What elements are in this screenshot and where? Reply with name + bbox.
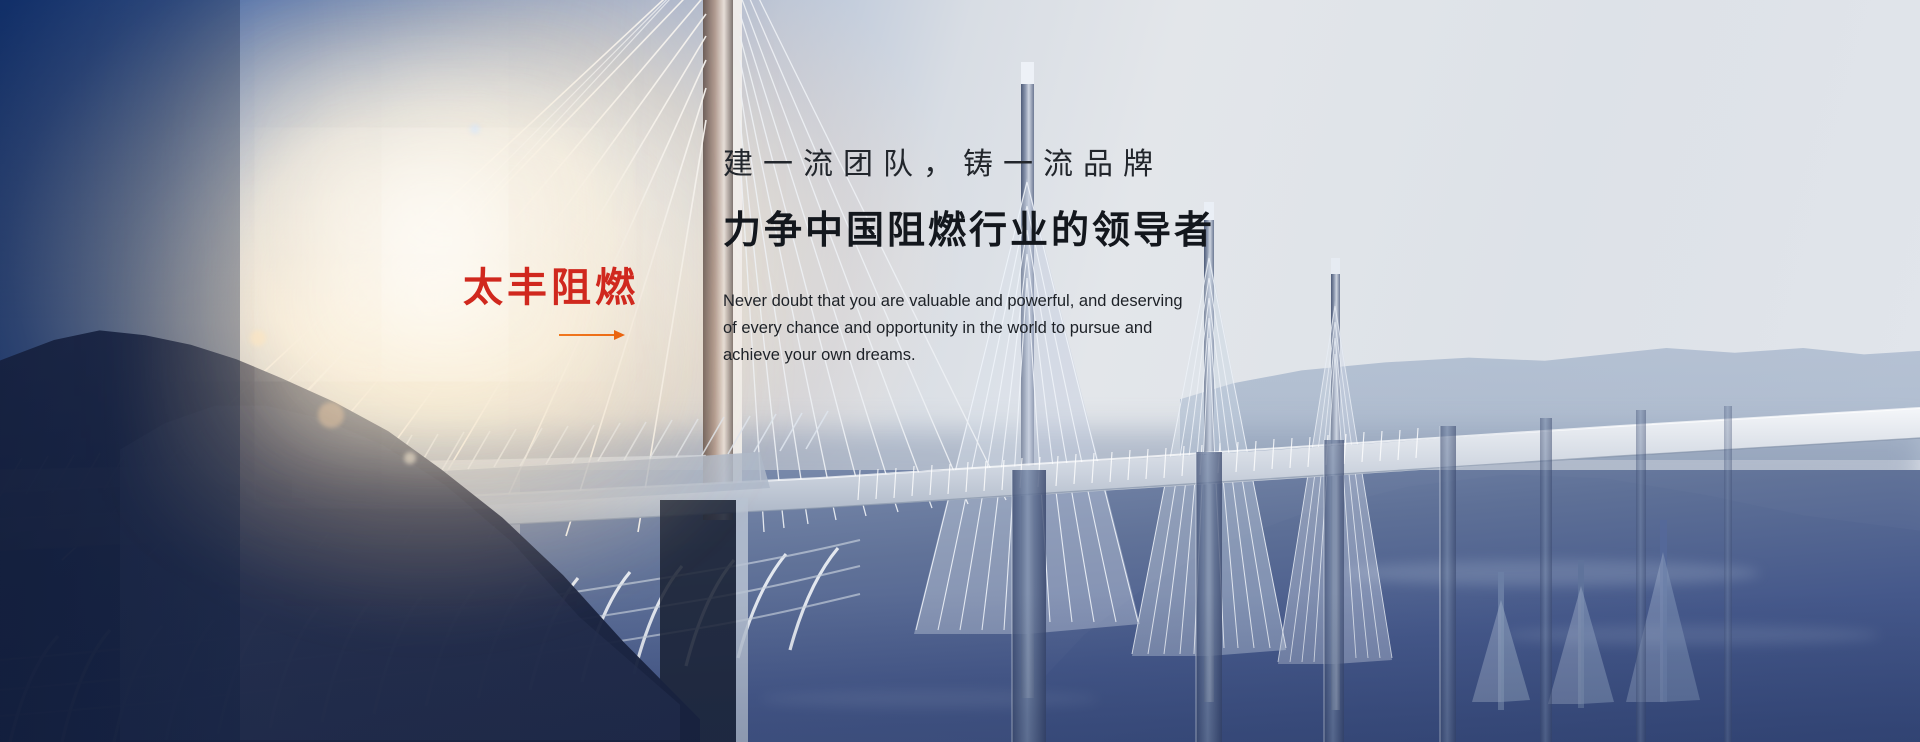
brand-logo: 太丰阻燃	[463, 268, 683, 340]
hero-paragraph-line-2: of every chance and opportunity in the w…	[723, 315, 1193, 342]
arrow-right-icon	[559, 330, 625, 340]
hero-subheadline: 建一流团队，铸一流品牌	[723, 150, 1363, 180]
hero-paragraph-line-3: achieve your own dreams.	[723, 342, 1193, 369]
arrow-head	[614, 330, 625, 340]
arrow-shaft	[559, 334, 619, 336]
flare-dot	[318, 402, 344, 428]
bottom-vignette	[0, 592, 1920, 742]
hero-paragraph-line-1: Never doubt that you are valuable and po…	[723, 288, 1193, 315]
hero-headline: 力争中国阻燃行业的领导者	[723, 212, 1363, 250]
flare-dot	[250, 330, 266, 346]
hero-banner: 太丰阻燃 建一流团队，铸一流品牌 力争中国阻燃行业的领导者 Never doub…	[0, 0, 1920, 742]
hero-copy: 建一流团队，铸一流品牌 力争中国阻燃行业的领导者 Never doubt tha…	[723, 150, 1363, 369]
flare-dot	[470, 124, 480, 134]
flare-dot	[404, 452, 416, 464]
hero-paragraph: Never doubt that you are valuable and po…	[723, 288, 1193, 369]
brand-logo-text: 太丰阻燃	[463, 268, 683, 308]
